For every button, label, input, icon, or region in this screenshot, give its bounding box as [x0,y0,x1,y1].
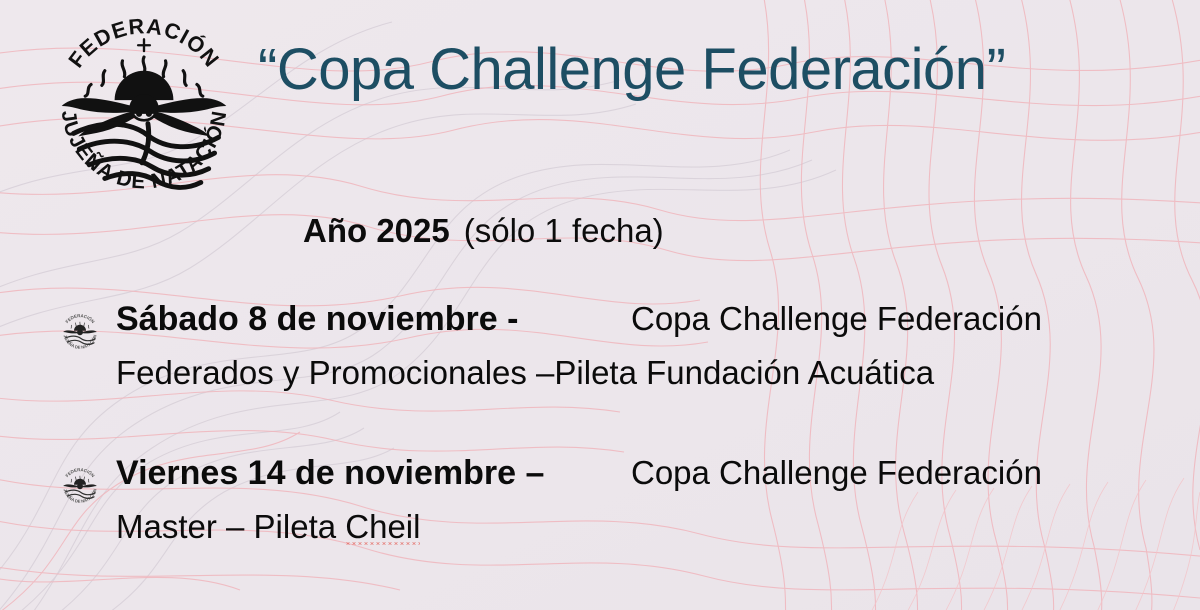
event-headline: FEDERACIÓN JUJEÑA DE NATACIÓN [0,454,1200,504]
slide-canvas: FEDERACIÓN JUJEÑA DE NATACIÓN [0,0,1200,610]
event-detail-text: Federados y Promocionales –Pileta Fundac… [116,354,934,391]
federation-logo-bullet-icon: FEDERACIÓN JUJEÑA DE NATACIÓN [60,466,100,506]
year-label: Año 2025 [303,212,450,249]
event-item: FEDERACIÓN JUJEÑA DE NATACIÓN [0,454,1200,546]
federation-logo: FEDERACIÓN JUJEÑA DE NATACIÓN [46,8,242,204]
federation-logo-bullet-icon: FEDERACIÓN JUJEÑA DE NATACIÓN [60,312,100,352]
year-note: (sólo 1 fecha) [464,212,664,249]
event-name: Copa Challenge Federación [631,454,1042,492]
event-date: Viernes 14 de noviembre – [116,454,544,493]
events-list: FEDERACIÓN JUJEÑA DE NATACIÓN [0,300,1200,546]
spellcheck-flagged-word: Cheil [345,508,420,545]
logo-cross-icon [138,39,150,51]
logo-swimmer-head-icon [129,94,158,121]
event-name: Copa Challenge Federación [631,300,1042,338]
page-title: “Copa Challenge Federación” [258,40,1158,101]
event-item: FEDERACIÓN JUJEÑA DE NATACIÓN [0,300,1200,392]
year-line: Año 2025(sólo 1 fecha) [303,212,664,250]
event-detail: Federados y Promocionales –Pileta Fundac… [0,354,1200,392]
event-detail-prefix: Master – Pileta [116,508,345,545]
event-date: Sábado 8 de noviembre - [116,300,518,339]
event-headline: FEDERACIÓN JUJEÑA DE NATACIÓN [0,300,1200,350]
event-detail: Master – Pileta Cheil [0,508,1200,546]
